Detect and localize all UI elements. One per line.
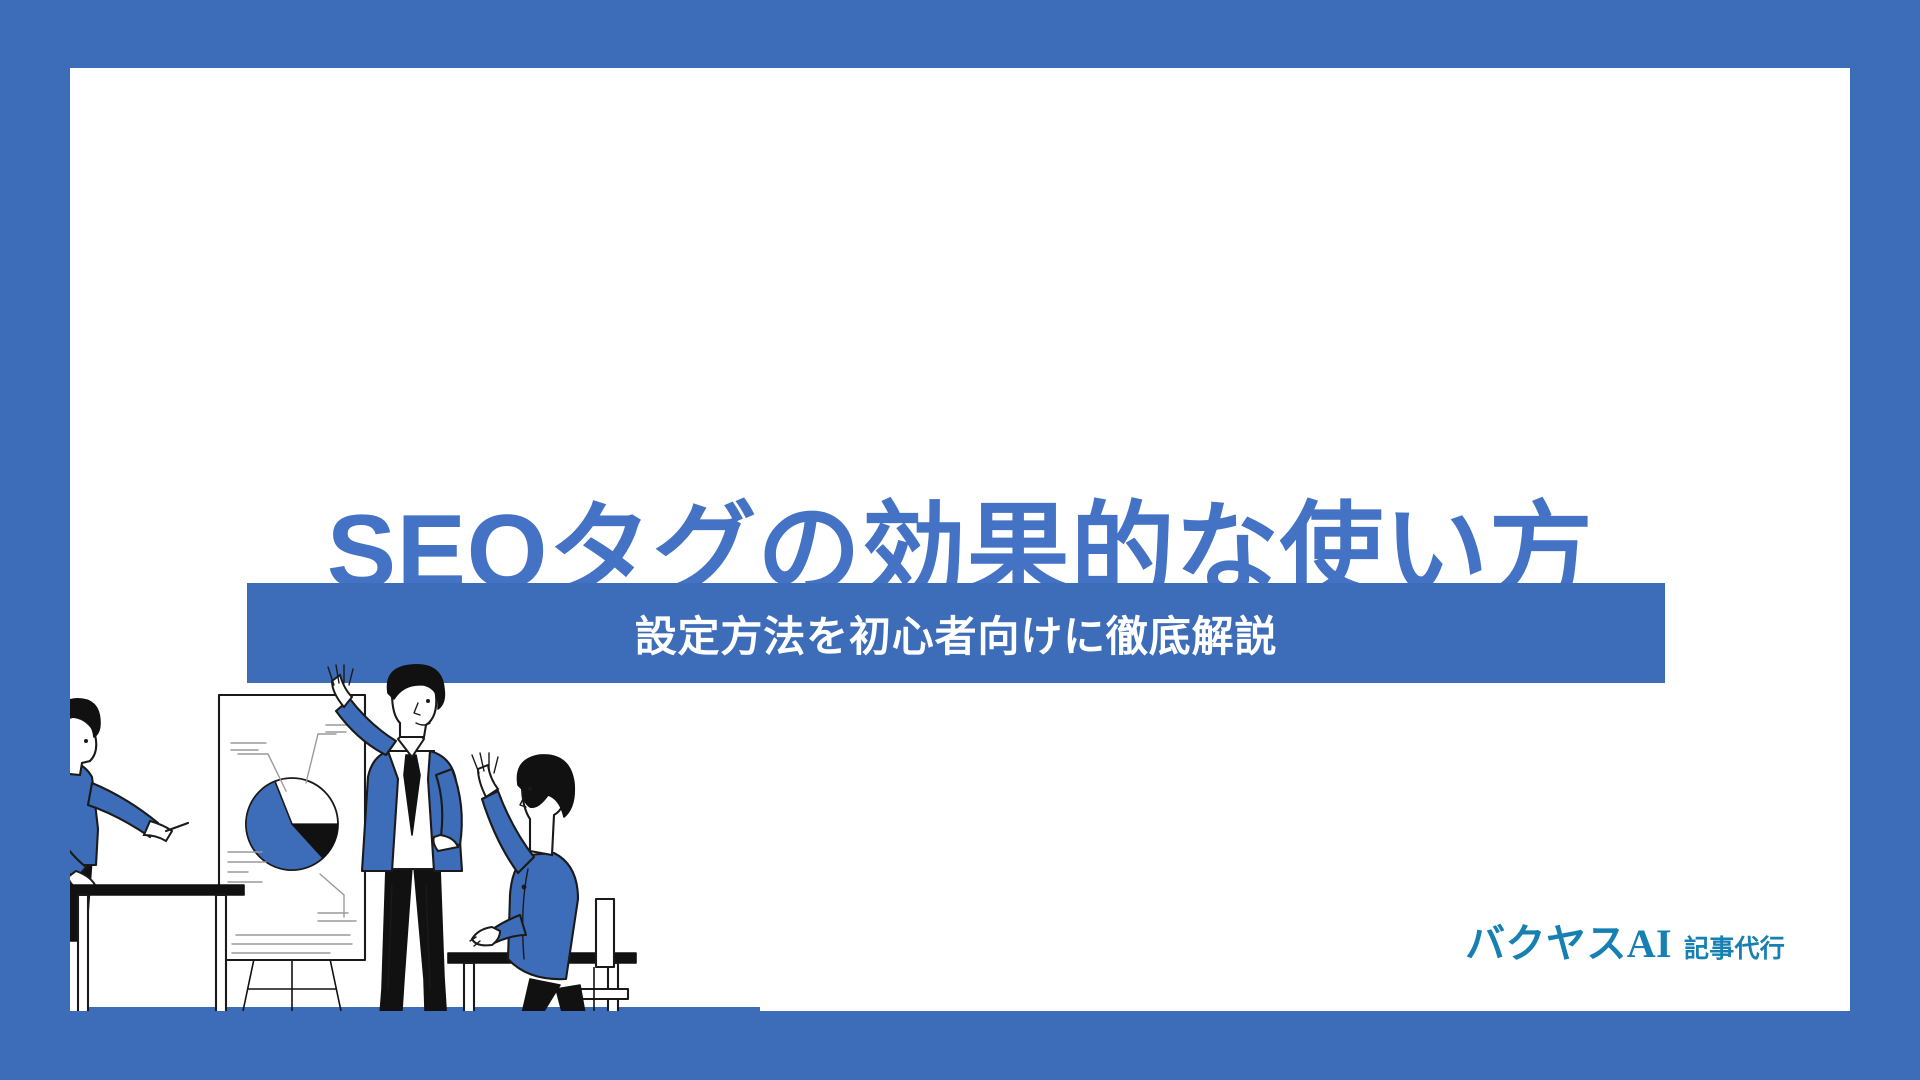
slide-canvas: SEOタグの効果的な使い方 設定方法を初心者向けに徹底解説 バクヤスAI 記事代… (70, 68, 1850, 1011)
slide-root: SEOタグの効果的な使い方 設定方法を初心者向けに徹底解説 バクヤスAI 記事代… (0, 0, 1920, 1080)
figure-seated-person (470, 753, 628, 1011)
poster-pie-chart (246, 778, 338, 870)
subtitle-text: 設定方法を初心者向けに徹底解説 (635, 603, 1278, 664)
brand-logo-name: バクヤスAI (1465, 911, 1672, 969)
floor-band (70, 1007, 760, 1011)
business-team-illustration: .ln { fill:none; stroke:#1a1a1a; stroke-… (70, 659, 760, 1011)
brand-logo-service: 記事代行 (1684, 929, 1785, 965)
easel-with-poster (219, 695, 365, 1011)
brand-logo: バクヤスAI 記事代行 (1465, 911, 1785, 969)
table-left (70, 885, 244, 1011)
